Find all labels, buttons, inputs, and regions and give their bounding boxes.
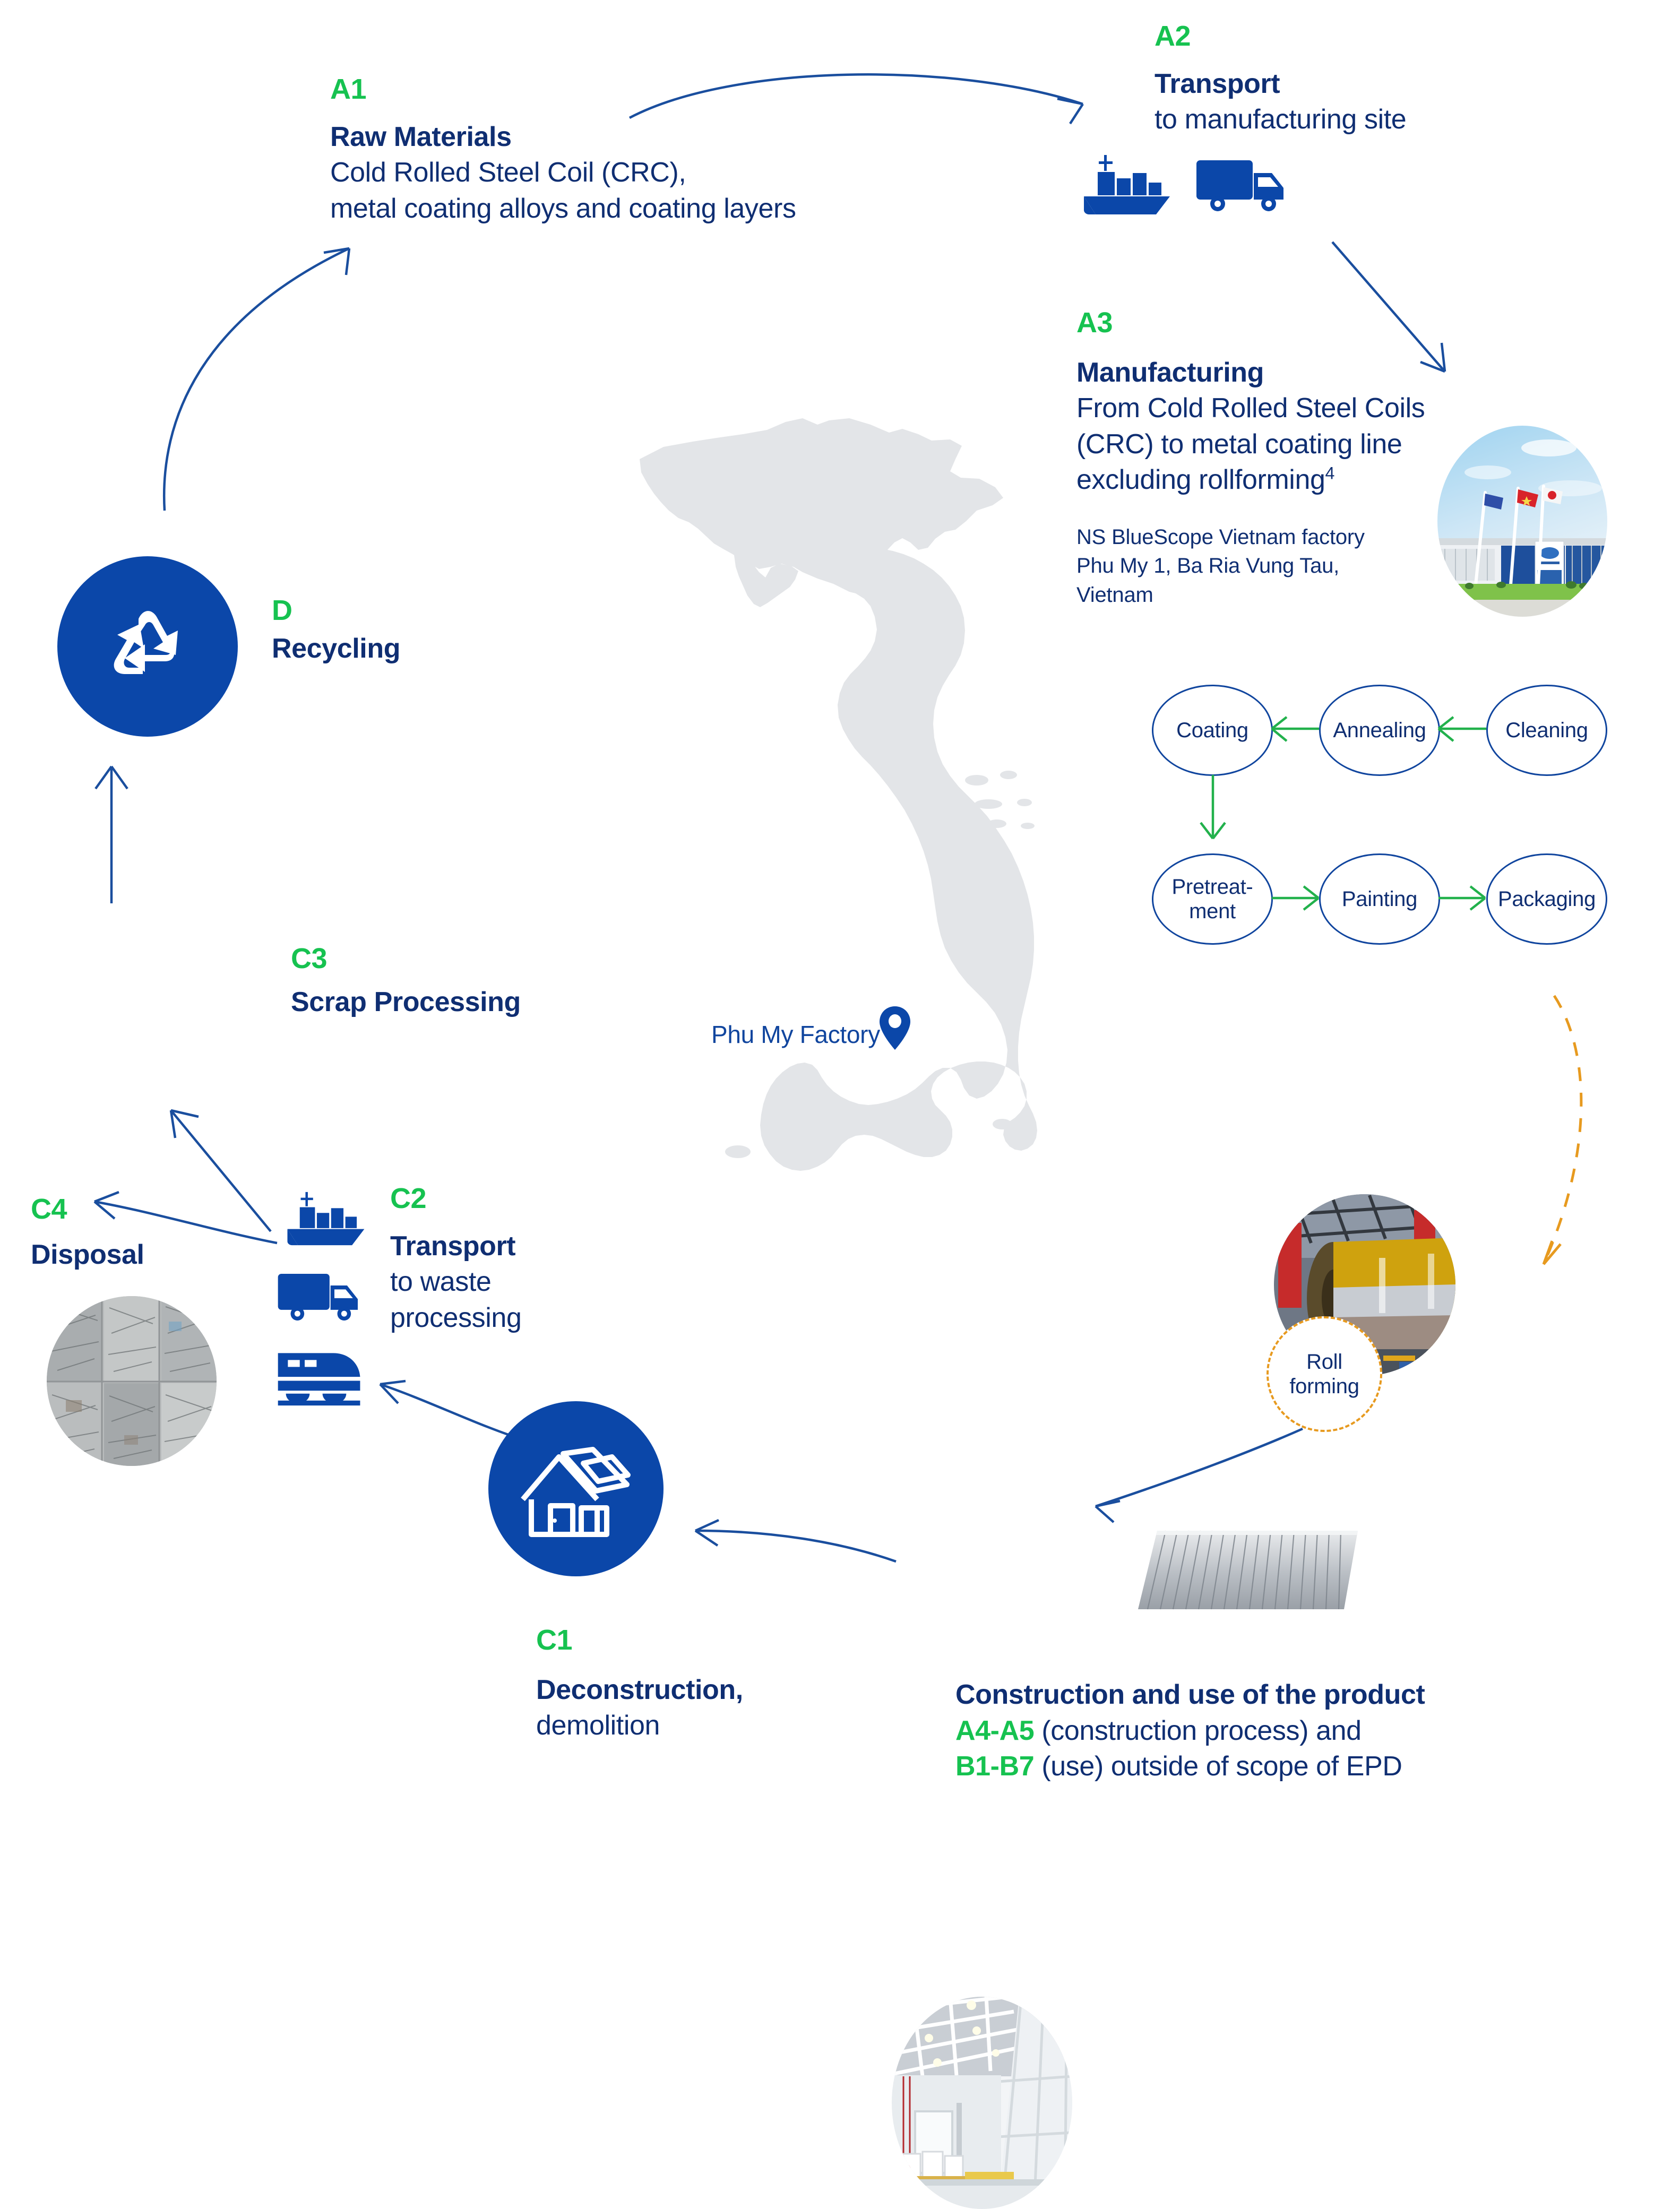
- house-demolition-icon: [518, 1436, 634, 1542]
- stage-c2-subtitle-line1: to waste: [390, 1264, 613, 1300]
- stage-c1-code: C1: [536, 1625, 743, 1655]
- stage-a3-desc-line3: excluding rollforming4: [1076, 462, 1459, 498]
- process-flow-arrows: [1263, 706, 1614, 982]
- stage-a3-desc-line1: From Cold Rolled Steel Coils: [1076, 391, 1459, 427]
- stage-a3-footnote-marker: 4: [1325, 464, 1335, 483]
- truck-icon: [276, 1269, 364, 1326]
- ship-icon: [1071, 153, 1172, 217]
- stage-c3-code: C3: [291, 944, 521, 974]
- rollforming-label: Roll forming: [1289, 1350, 1359, 1399]
- stage-c1: C1 Deconstruction, demolition: [536, 1625, 743, 1744]
- stage-a2-code: A2: [1155, 21, 1632, 51]
- arrow-rollforming-to-use: [1088, 1422, 1311, 1518]
- stage-use-title: Construction and use of the product: [955, 1677, 1592, 1713]
- warehouse-photo: [892, 1997, 1072, 2209]
- lifecycle-diagram: Phu My Factory A1 Raw Materials Cold Rol…: [0, 0, 1680, 1828]
- stage-a3-address-line1: NS BlueScope Vietnam factory: [1076, 523, 1459, 551]
- stage-c3: C3 Scrap Processing: [291, 944, 521, 1020]
- stage-use-code-a: A4-A5: [955, 1715, 1034, 1746]
- factory-photo: [1437, 426, 1607, 617]
- stage-use-text-b: (use) outside of scope of EPD: [1034, 1751, 1402, 1782]
- arrow-c3-to-recycling: [80, 759, 143, 908]
- stage-a3-code: A3: [1076, 308, 1459, 338]
- stage-a1-line1: Cold Rolled Steel Coil (CRC),: [330, 155, 914, 191]
- stage-a3-address-line2: Phu My 1, Ba Ria Vung Tau,: [1076, 551, 1459, 580]
- process-node-pretreatment[interactable]: Pretreat- ment: [1152, 853, 1273, 945]
- stage-c3-title: Scrap Processing: [291, 985, 521, 1021]
- process-node-coating[interactable]: Coating: [1152, 685, 1273, 776]
- stage-d-code: D: [272, 596, 400, 626]
- vietnam-map: [584, 409, 1062, 1215]
- recycling-icon: [92, 593, 203, 700]
- stage-use-line-b: B1-B7 (use) outside of scope of EPD: [955, 1749, 1592, 1785]
- truck-icon: [1194, 155, 1290, 217]
- arrow-use-to-c1: [685, 1518, 902, 1576]
- stage-a2-title: Transport: [1155, 66, 1632, 102]
- process-node-pretreatment-label: Pretreat- ment: [1172, 875, 1253, 924]
- ship-icon: [276, 1189, 366, 1248]
- stage-use-text-a: (construction process) and: [1034, 1715, 1361, 1746]
- stage-a3: A3 Manufacturing From Cold Rolled Steel …: [1076, 308, 1459, 609]
- stage-c2-code: C2: [390, 1184, 613, 1214]
- recycling-circle: [57, 556, 238, 737]
- stage-a1-line2: metal coating alloys and coating layers: [330, 191, 914, 227]
- stage-a3-title: Manufacturing: [1076, 355, 1459, 391]
- stage-c4-code: C4: [31, 1194, 144, 1224]
- scrap-bales-photo: [47, 1296, 217, 1466]
- train-icon: [275, 1348, 364, 1406]
- stage-use: Construction and use of the product A4-A…: [955, 1677, 1592, 1785]
- stage-a3-address-line3: Vietnam: [1076, 581, 1459, 609]
- process-node-coating-label: Coating: [1176, 718, 1248, 743]
- stage-d: D Recycling: [272, 596, 400, 667]
- stage-d-title: Recycling: [272, 631, 400, 667]
- stage-c4-title: Disposal: [31, 1237, 144, 1273]
- arrow-recycling-to-a1: [149, 239, 377, 515]
- stage-a2-subtitle: to manufacturing site: [1155, 102, 1632, 138]
- stage-a3-desc-line2: (CRC) to metal coating line: [1076, 427, 1459, 463]
- stage-use-code-b: B1-B7: [955, 1751, 1034, 1782]
- map-marker-label: Phu My Factory: [711, 1020, 880, 1049]
- stage-c2: C2 Transport to waste processing: [390, 1184, 613, 1336]
- deconstruction-circle: [488, 1401, 664, 1576]
- arrow-a1-to-a2: [626, 69, 1115, 143]
- stage-c1-title: Deconstruction,: [536, 1672, 743, 1708]
- stage-c2-subtitle-line2: processing: [390, 1300, 613, 1336]
- stage-c2-title: Transport: [390, 1229, 613, 1265]
- stage-c4: C4 Disposal: [31, 1194, 144, 1273]
- corrugated-steel-sheet: [1136, 1523, 1359, 1629]
- arrow-to-rollforming: [1486, 993, 1619, 1311]
- rollforming-node[interactable]: Roll forming: [1267, 1316, 1382, 1432]
- stage-c1-subtitle: demolition: [536, 1708, 743, 1744]
- stage-use-line-a: A4-A5 (construction process) and: [955, 1713, 1592, 1749]
- stage-a2: A2 Transport to manufacturing site: [1155, 21, 1632, 138]
- map-pin-icon: [878, 1005, 911, 1051]
